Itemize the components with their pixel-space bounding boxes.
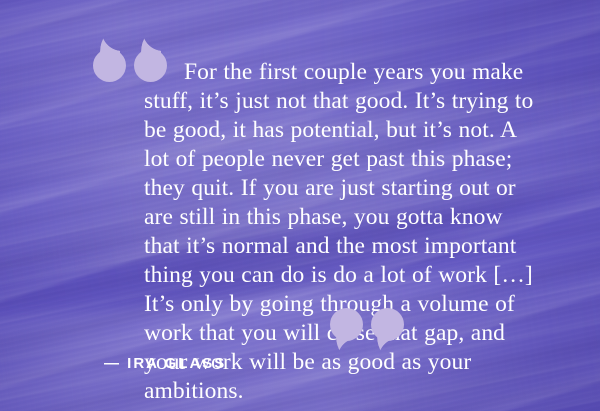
open-quote-icon <box>93 31 171 83</box>
quote-attribution: — IRA GLASS <box>104 355 226 372</box>
quote-card: For the first couple years you make stuf… <box>0 0 600 411</box>
quote-content: For the first couple years you make stuf… <box>0 0 600 411</box>
close-quote-icon <box>330 308 408 360</box>
